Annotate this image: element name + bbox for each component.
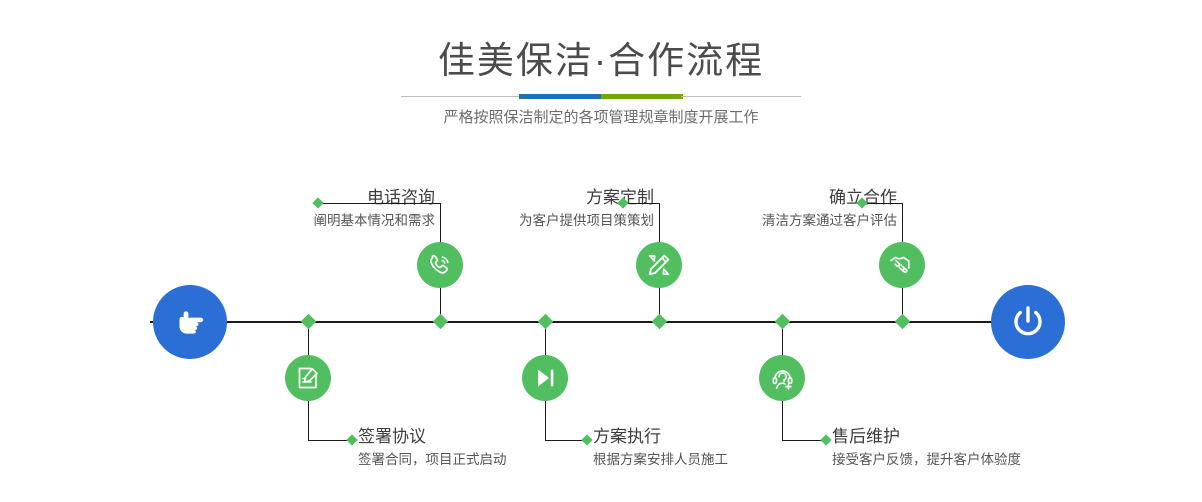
power-icon (1007, 301, 1049, 343)
axis-marker-2 (301, 314, 317, 330)
step-icon-circle-6[interactable] (759, 355, 805, 401)
play-execute-icon (532, 365, 558, 391)
connector-horizontal-2 (308, 440, 350, 441)
step-title-2: 签署协议 (358, 425, 608, 449)
pencil-ruler-icon (645, 251, 673, 279)
page-header: 佳美保洁·合作流程 严格按照保洁制定的各项管理规章制度开展工作 (0, 0, 1202, 140)
step-label-6: 售后维护 接受客户反馈，提升客户体验度 (832, 425, 1112, 471)
label-marker-2 (346, 434, 357, 445)
connector-horizontal-1 (318, 203, 440, 204)
step-title-1: 电话咨询 (245, 186, 435, 210)
step-icon-circle-3[interactable] (636, 242, 682, 288)
step-desc-2: 签署合同，项目正式启动 (358, 449, 608, 471)
step-label-2: 签署协议 签署合同，项目正式启动 (358, 425, 608, 471)
document-pen-icon (295, 365, 321, 391)
phone-call-icon (426, 251, 454, 279)
step-desc-1: 阐明基本情况和需求 (245, 210, 435, 232)
step-label-1: 电话咨询 阐明基本情况和需求 (245, 186, 435, 232)
timeline-axis (150, 321, 1054, 323)
step-desc-3: 为客户提供项目策策划 (459, 210, 654, 232)
title-divider (401, 94, 801, 100)
step-label-3: 方案定制 为客户提供项目策策划 (459, 186, 654, 232)
step-icon-circle-2[interactable] (285, 355, 331, 401)
step-title-5: 确立合作 (702, 186, 897, 210)
axis-marker-4 (538, 314, 554, 330)
step-label-4: 方案执行 根据方案安排人员施工 (593, 425, 843, 471)
end-node-power[interactable] (991, 285, 1065, 359)
divider-segment-green (601, 94, 683, 99)
page-subtitle: 严格按照保洁制定的各项管理规章制度开展工作 (0, 107, 1202, 129)
handshake-icon (888, 251, 916, 279)
divider-segment-gray-left (401, 96, 521, 97)
step-desc-5: 清洁方案通过客户评估 (702, 210, 897, 232)
axis-marker-3 (652, 314, 668, 330)
pointing-hand-icon (170, 302, 210, 342)
axis-marker-6 (775, 314, 791, 330)
step-icon-circle-5[interactable] (879, 242, 925, 288)
axis-marker-1 (433, 314, 449, 330)
start-node-pointing-hand[interactable] (153, 285, 227, 359)
step-icon-circle-1[interactable] (417, 242, 463, 288)
flowchart-page: 佳美保洁·合作流程 严格按照保洁制定的各项管理规章制度开展工作 (0, 0, 1202, 502)
connector-horizontal-5 (862, 203, 902, 204)
step-desc-6: 接受客户反馈，提升客户体验度 (832, 449, 1112, 471)
step-title-6: 售后维护 (832, 425, 1112, 449)
customer-service-add-icon (769, 365, 796, 392)
page-title: 佳美保洁·合作流程 (0, 38, 1202, 84)
step-icon-circle-4[interactable] (522, 355, 568, 401)
step-label-5: 确立合作 清洁方案通过客户评估 (702, 186, 897, 232)
step-title-4: 方案执行 (593, 425, 843, 449)
divider-segment-gray-right (681, 96, 801, 97)
step-desc-4: 根据方案安排人员施工 (593, 449, 843, 471)
connector-horizontal-6 (782, 440, 824, 441)
divider-segment-blue (519, 94, 601, 99)
connector-horizontal-4 (545, 440, 585, 441)
axis-marker-5 (895, 314, 911, 330)
